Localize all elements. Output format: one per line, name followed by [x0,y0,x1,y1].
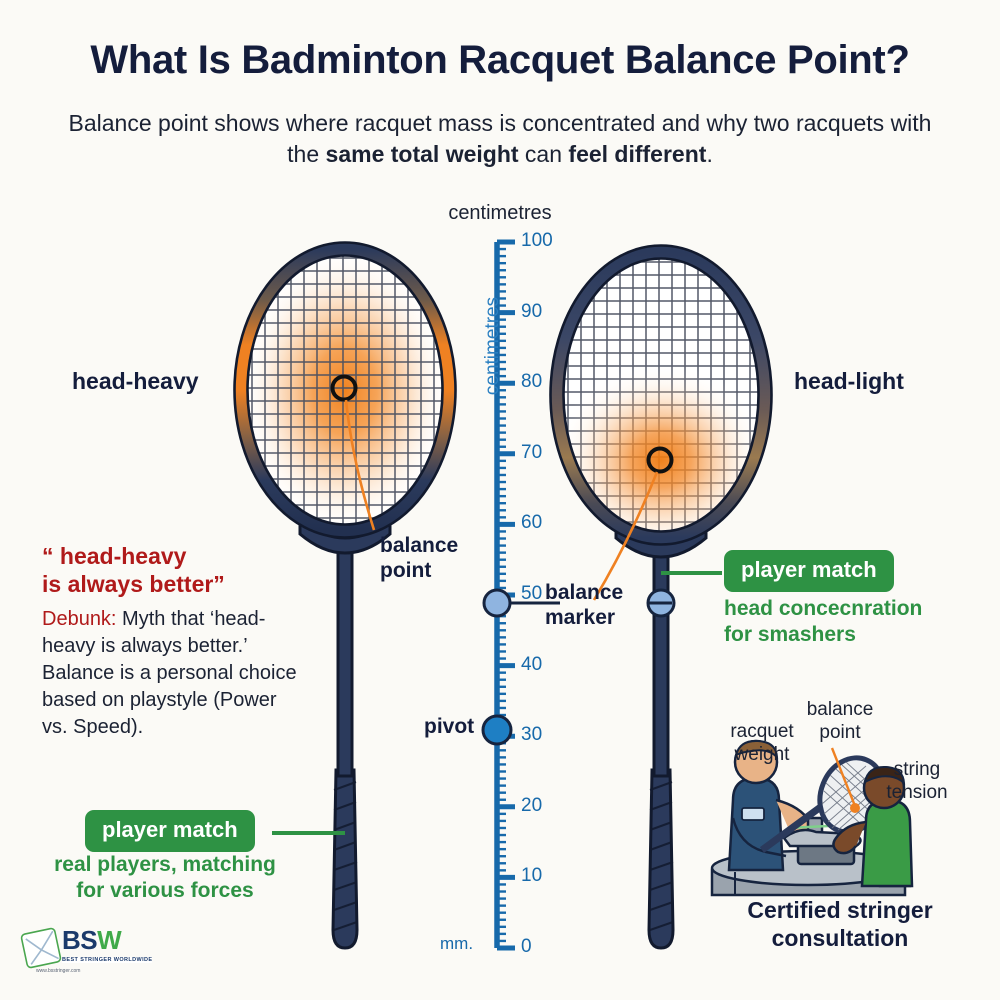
bsw-logo-text: BSW [62,925,152,956]
player-match-sub-left-line1: real players, matching [20,852,310,878]
illustration-caption-line1: Certified stringer [690,896,990,924]
player-match-badge-right[interactable]: player match [724,550,894,592]
ruler-tick-label-50: 50 [521,583,542,605]
grip-right [649,770,673,948]
myth-quote: “ head-heavy is always better” [42,542,302,598]
illustration-caption: Certified stringer consultation [690,896,990,952]
balance-point-callout-line1: balance [380,533,490,558]
ruler-tick-label-20: 20 [521,795,542,817]
page-title: What Is Badminton Racquet Balance Point? [0,38,1000,83]
player-match-sub-right-line1: head concecnration [724,596,974,622]
pivot-dot [483,716,511,744]
head-light-label: head-light [794,368,904,395]
myth-debunk-word: Debunk: [42,608,117,630]
ruler-tick-label-40: 40 [521,654,542,676]
ruler-tick-label-0: 0 [521,936,532,958]
bsw-logo-url: www.bsstringer.com [36,968,152,974]
subtitle-text-3: . [706,141,712,167]
grip-left [333,770,357,948]
player-match-sub-right-line2: for smashers [724,622,974,648]
player-match-badge-right-wrap: player match [724,550,894,592]
ruler-caption: centimetres [390,202,610,225]
ruler-tick-label-70: 70 [521,442,542,464]
player-match-sub-right: head concecnration for smashers [724,596,974,648]
player-match-sub-left-line2: for various forces [20,878,310,904]
balance-marker-callout-line2: marker [545,605,675,630]
infographic-page: What Is Badminton Racquet Balance Point?… [0,0,1000,1000]
ruler-axis-title: centimetres [482,256,504,436]
balance-marker-dot-ruler [484,590,510,616]
page-subtitle: Balance point shows where racquet mass i… [60,108,940,170]
balance-marker-callout: balance marker [545,580,675,630]
subtitle-bold-1: same total weight [326,141,519,167]
shaft-left [338,548,352,776]
balance-point-callout-line2: point [380,558,490,583]
illus-racquet-weight-line2: weight [712,743,812,766]
logo-letter-s: S [80,925,97,955]
ruler-tick-label-60: 60 [521,512,542,534]
head-heavy-label: head-heavy [72,368,199,395]
myth-quote-line1: “ head-heavy [42,542,302,570]
name-badge [742,808,764,820]
illus-string-tension-line1: string [872,758,962,781]
ruler-tick-label-90: 90 [521,301,542,323]
illus-balance-point-line1: balance [790,698,890,721]
logo-letter-b: B [62,925,80,955]
player-match-badge-left[interactable]: player match [85,810,255,852]
illustration-caption-line2: consultation [690,924,990,952]
ruler-tick-label-10: 10 [521,865,542,887]
illustration-label-string-tension: string tension [872,758,962,804]
illustration-label-balance-point: balance point [790,698,890,744]
myth-quote-line2: is always better” [42,570,302,598]
player-match-sub-left: real players, matching for various force… [20,852,310,904]
pivot-label: pivot [424,715,474,739]
ruler-tick-label-30: 30 [521,724,542,746]
subtitle-bold-2: feel different [568,141,706,167]
logo-letter-w: W [97,925,121,955]
bsw-logo-tagline: BEST STRINGER WORLDWIDE [62,957,152,963]
subtitle-text-2: can [519,141,569,167]
balance-marker-callout-line1: balance [545,580,675,605]
illus-string-tension-line2: tension [872,781,962,804]
ruler-tick-label-100: 100 [521,230,553,252]
illus-balance-point-line2: point [790,721,890,744]
ruler-unit-label: mm. [440,934,473,954]
player-match-badge-left-wrap: player match [85,810,255,852]
bsw-logo: BSW BEST STRINGER WORLDWIDE www.bsstring… [22,925,152,974]
ruler-tick-label-80: 80 [521,371,542,393]
balance-point-callout: balance point [380,533,490,583]
myth-body: Debunk: Myth that ‘head-heavy is always … [42,606,300,741]
